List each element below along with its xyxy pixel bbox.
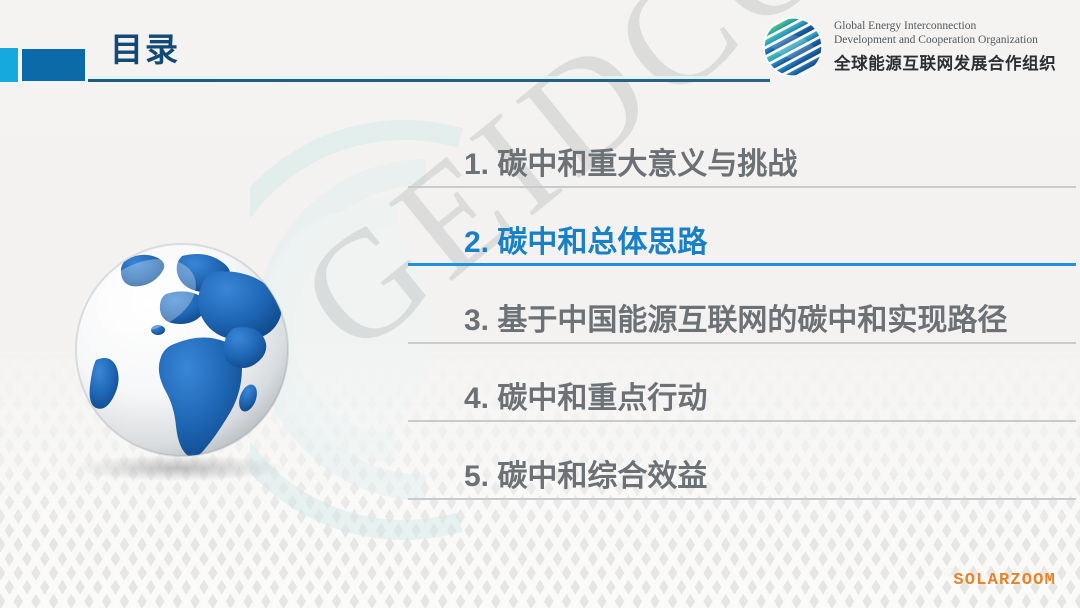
toc-item-2[interactable]: 2. 碳中和总体思路 [408, 196, 1076, 274]
toc-item-4-underline [408, 420, 1076, 422]
toc-item-3[interactable]: 3. 基于中国能源互联网的碳中和实现路径 [408, 274, 1076, 352]
toc-item-5-label: 5. 碳中和综合效益 [464, 462, 707, 492]
logo-english-line1: Global Energy Interconnection [834, 20, 1056, 34]
toc-item-2-label: 2. 碳中和总体思路 [464, 228, 707, 258]
geidco-globe-icon [762, 16, 824, 78]
solarzoom-watermark: SOLARZOOM [953, 571, 1056, 590]
toc-item-3-label: 3. 基于中国能源互联网的碳中和实现路径 [464, 306, 1007, 336]
toc-item-1[interactable]: 1. 碳中和重大意义与挑战 [408, 118, 1076, 196]
geidco-logo: Global Energy Interconnection Developmen… [762, 12, 1074, 82]
toc-item-5[interactable]: 5. 碳中和综合效益 [408, 430, 1076, 508]
table-of-contents: 1. 碳中和重大意义与挑战 2. 碳中和总体思路 3. 基于中国能源互联网的碳中… [408, 118, 1076, 508]
toc-item-1-label: 1. 碳中和重大意义与挑战 [464, 150, 797, 180]
toc-item-4[interactable]: 4. 碳中和重点行动 [408, 352, 1076, 430]
logo-chinese: 全球能源互联网发展合作组织 [834, 50, 1056, 74]
logo-english-line2: Development and Cooperation Organization [834, 34, 1056, 48]
toc-item-5-underline [408, 498, 1076, 500]
geidco-logo-text: Global Energy Interconnection Developmen… [834, 20, 1056, 74]
world-globe-image [62, 232, 302, 472]
toc-item-2-underline [408, 263, 1076, 266]
toc-item-3-underline [408, 342, 1076, 344]
slide-canvas: GEIDCO 目录 [0, 0, 1080, 608]
header-accent-block-blue [21, 48, 86, 82]
page-title: 目录 [110, 33, 180, 66]
toc-item-1-underline [408, 186, 1076, 188]
toc-item-4-label: 4. 碳中和重点行动 [464, 384, 707, 414]
header-accent-block-cyan [0, 48, 18, 82]
header-rule [88, 79, 770, 82]
